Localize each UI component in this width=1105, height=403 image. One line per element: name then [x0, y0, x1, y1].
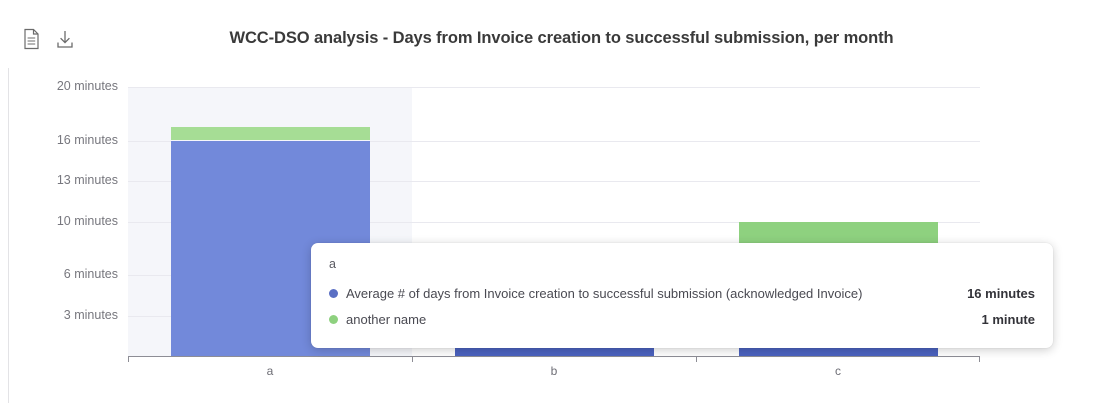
axis-tick	[696, 356, 697, 362]
axis-tick	[412, 356, 413, 362]
axis-tick	[979, 356, 980, 362]
chart-widget: WCC-DSO analysis - Days from Invoice cre…	[0, 0, 1105, 403]
page-title: WCC-DSO analysis - Days from Invoice cre…	[0, 29, 1105, 48]
chart-tooltip: a Average # of days from Invoice creatio…	[311, 243, 1053, 348]
y-axis-tick-label: 10 minutes	[0, 214, 118, 228]
tooltip-row: another name 1 minute	[329, 306, 1035, 332]
tooltip-row: Average # of days from Invoice creation …	[329, 280, 1035, 306]
legend-dot-icon	[329, 289, 338, 298]
tooltip-category: a	[329, 257, 1035, 271]
y-axis-tick-label: 6 minutes	[0, 267, 118, 281]
bar-segment[interactable]	[171, 127, 370, 140]
legend-dot-icon	[329, 315, 338, 324]
y-axis-tick-label: 3 minutes	[0, 308, 118, 322]
y-axis-tick-label: 16 minutes	[0, 133, 118, 147]
tooltip-series-value: 1 minute	[966, 312, 1035, 327]
x-axis-line	[128, 356, 980, 357]
gridline	[128, 87, 980, 88]
tooltip-series-label: Average # of days from Invoice creation …	[346, 286, 951, 301]
tooltip-series-value: 16 minutes	[951, 286, 1035, 301]
y-axis-tick-label: 20 minutes	[0, 79, 118, 93]
axis-tick	[128, 356, 129, 362]
x-axis-tick-label: b	[551, 364, 558, 378]
tooltip-series-label: another name	[346, 312, 966, 327]
x-axis-tick-label: a	[267, 364, 274, 378]
y-axis-tick-label: 13 minutes	[0, 173, 118, 187]
x-axis-tick-label: c	[835, 364, 841, 378]
